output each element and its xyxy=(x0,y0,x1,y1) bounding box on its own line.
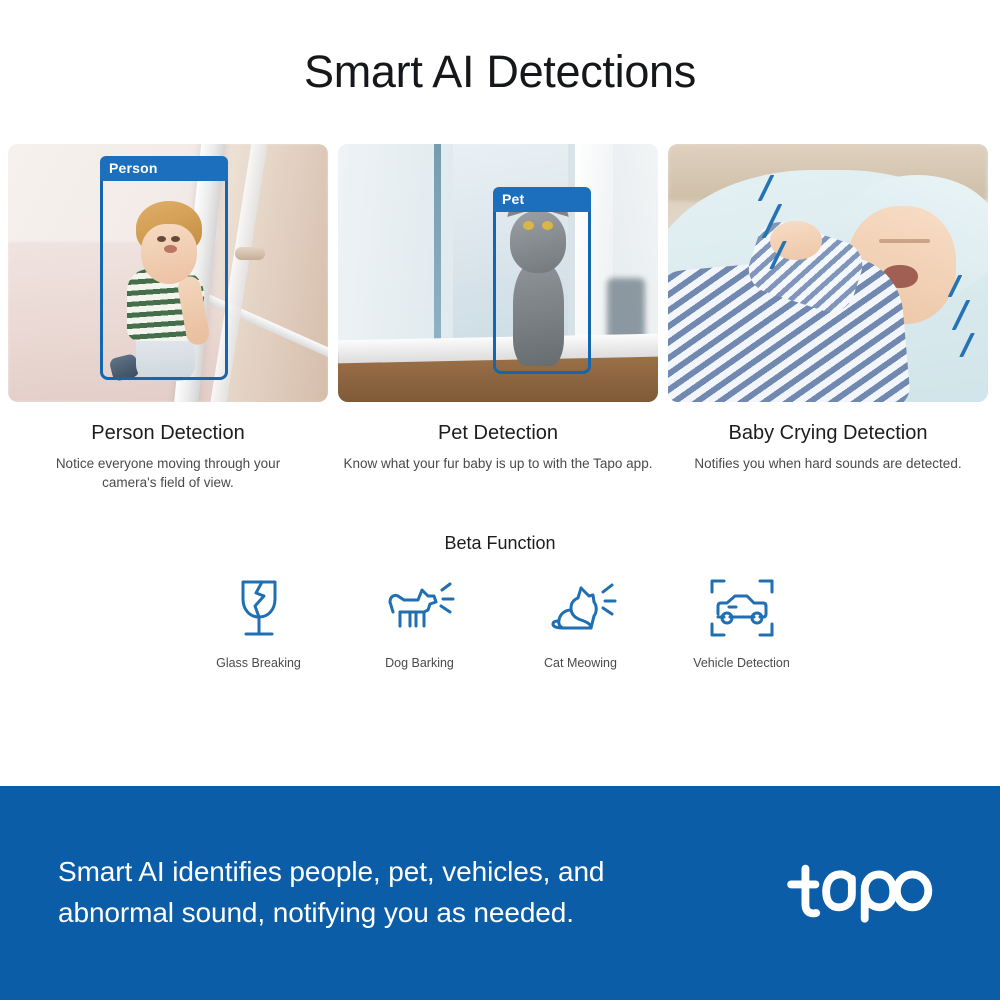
card-baby-crying-detection: Baby Crying Detection Notifies you when … xyxy=(668,144,988,493)
person-detection-image: Person xyxy=(8,144,328,402)
card-pet-detection: Pet Pet Detection Know what your fur bab… xyxy=(338,144,658,493)
beta-function-heading: Beta Function xyxy=(0,533,1000,554)
detection-box-person: Person xyxy=(100,156,228,380)
scene-crying-baby xyxy=(668,144,988,402)
baby-crying-detection-image xyxy=(668,144,988,402)
detection-label-person: Person xyxy=(100,156,228,181)
card-title: Person Detection xyxy=(91,422,244,445)
beta-label: Glass Breaking xyxy=(216,656,301,670)
detection-box-pet: Pet xyxy=(493,187,591,374)
card-subtitle: Notifies you when hard sounds are detect… xyxy=(694,454,961,474)
cat-meowing-icon xyxy=(545,576,617,640)
vehicle-detection-icon xyxy=(709,576,775,640)
detection-label-pet: Pet xyxy=(493,187,591,212)
pet-detection-image: Pet xyxy=(338,144,658,402)
footer-tagline: Smart AI identifies people, pet, vehicle… xyxy=(58,852,698,933)
beta-function-list: Glass Breaking Dog Barking xyxy=(0,576,1000,670)
card-title: Pet Detection xyxy=(438,422,558,445)
beta-item-dog-barking: Dog Barking xyxy=(361,576,478,670)
detection-cards: Person Person Detection Notice everyone … xyxy=(0,144,1000,493)
page-title: Smart AI Detections xyxy=(0,46,1000,98)
beta-label: Cat Meowing xyxy=(544,656,617,670)
card-subtitle: Notice everyone moving through your came… xyxy=(34,454,302,493)
dog-barking-icon xyxy=(384,576,456,640)
beta-item-cat-meowing: Cat Meowing xyxy=(522,576,639,670)
card-subtitle: Know what your fur baby is up to with th… xyxy=(344,454,653,474)
broken-glass-icon xyxy=(232,576,286,640)
tapo-logo xyxy=(784,857,934,929)
beta-item-glass-breaking: Glass Breaking xyxy=(200,576,317,670)
beta-item-vehicle-detection: Vehicle Detection xyxy=(683,576,800,670)
beta-label: Dog Barking xyxy=(385,656,454,670)
marketing-page: Smart AI Detections xyxy=(0,0,1000,1000)
card-person-detection: Person Person Detection Notice everyone … xyxy=(8,144,328,493)
footer-banner: Smart AI identifies people, pet, vehicle… xyxy=(0,786,1000,1000)
beta-label: Vehicle Detection xyxy=(693,656,790,670)
card-title: Baby Crying Detection xyxy=(729,422,928,445)
